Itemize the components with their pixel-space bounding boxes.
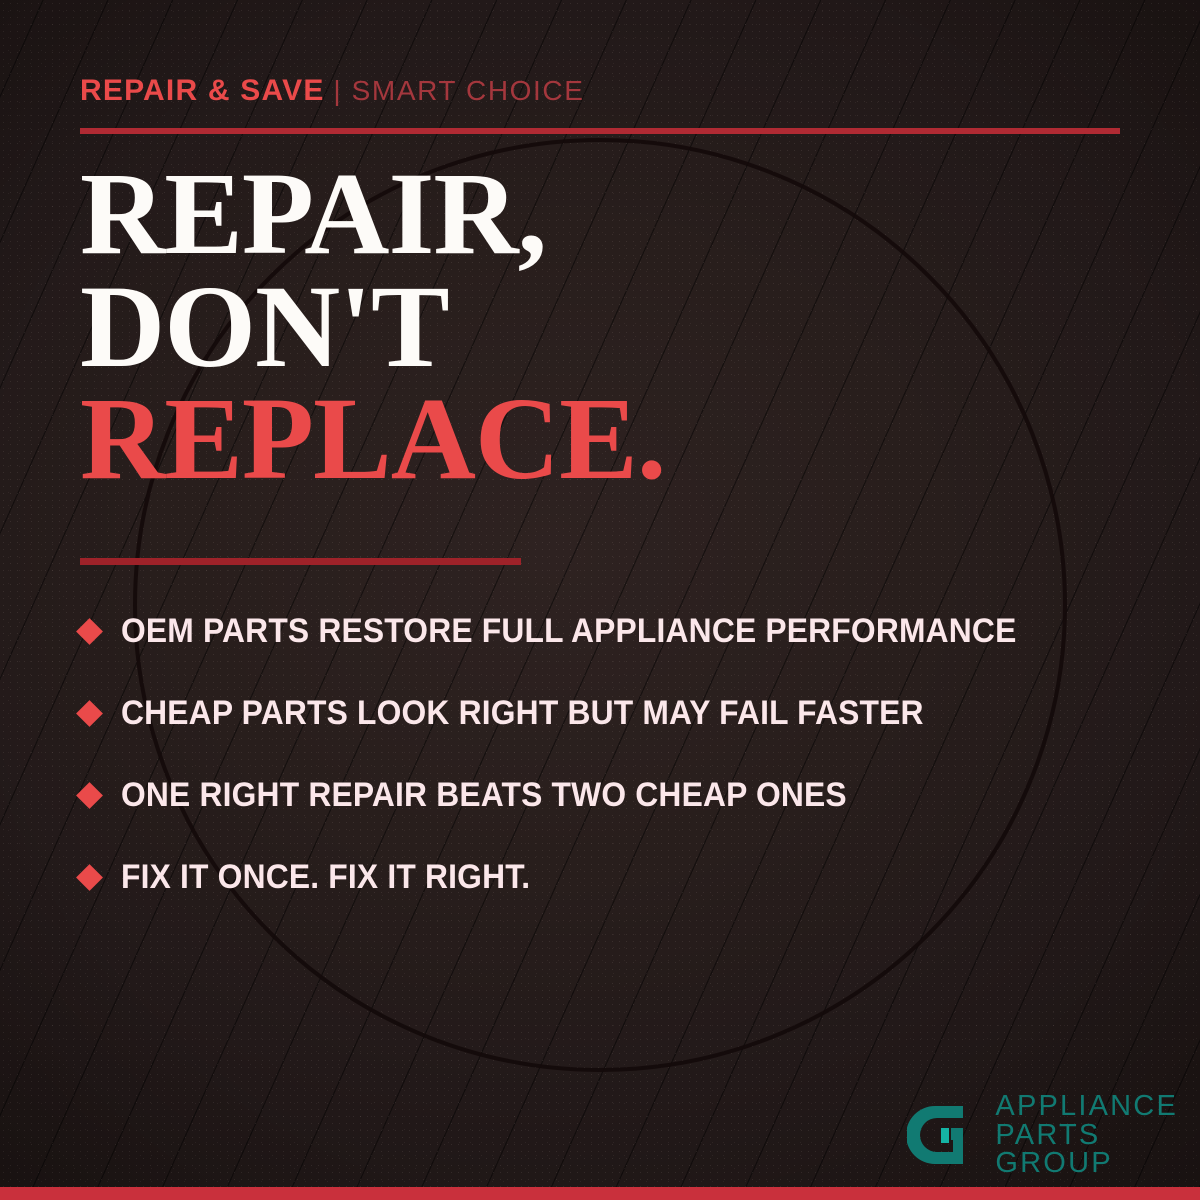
diamond-icon: [76, 864, 103, 891]
g-monogram-icon: [907, 1098, 981, 1172]
list-item-label: ONE RIGHT REPAIR BEATS TWO CHEAP ONES: [121, 776, 847, 815]
eyebrow-muted-text: | SMART CHOICE: [333, 75, 584, 106]
list-item-label: OEM PARTS RESTORE FULL APPLIANCE PERFORM…: [121, 612, 1016, 651]
list-item: CHEAP PARTS LOOK RIGHT BUT MAY FAIL FAST…: [80, 672, 1150, 754]
headline-line-1: REPAIR,: [80, 158, 665, 271]
eyebrow-strong-text: REPAIR & SAVE: [80, 74, 325, 107]
diamond-icon: [76, 618, 103, 645]
poster-content: REPAIR & SAVE | SMART CHOICE REPAIR, DON…: [0, 0, 1200, 1200]
list-item-label: CHEAP PARTS LOOK RIGHT BUT MAY FAIL FAST…: [121, 694, 924, 733]
list-item-label: FIX IT ONCE. FIX IT RIGHT.: [121, 858, 530, 897]
diamond-icon: [76, 700, 103, 727]
brand-line-2: PARTS: [995, 1121, 1178, 1150]
headline-divider-rule: [80, 558, 521, 565]
brand-wordmark: APPLIANCE PARTS GROUP: [995, 1092, 1178, 1178]
brand-logo: APPLIANCE PARTS GROUP: [907, 1092, 1178, 1178]
headline-line-2: DON'T: [80, 271, 665, 384]
brand-line-1: APPLIANCE: [995, 1092, 1178, 1121]
eyebrow-kicker: REPAIR & SAVE | SMART CHOICE: [80, 74, 585, 108]
benefits-list: OEM PARTS RESTORE FULL APPLIANCE PERFORM…: [80, 590, 1150, 918]
list-item: ONE RIGHT REPAIR BEATS TWO CHEAP ONES: [80, 754, 1150, 836]
diamond-icon: [76, 782, 103, 809]
list-item: OEM PARTS RESTORE FULL APPLIANCE PERFORM…: [80, 590, 1150, 672]
list-item: FIX IT ONCE. FIX IT RIGHT.: [80, 836, 1150, 918]
brand-line-3: GROUP: [995, 1149, 1178, 1178]
footer-accent-bar: [0, 1187, 1200, 1200]
header-divider-rule: [80, 128, 1120, 134]
headline-line-3: REPLACE.: [80, 383, 665, 496]
page-title: REPAIR, DON'T REPLACE.: [80, 158, 665, 496]
